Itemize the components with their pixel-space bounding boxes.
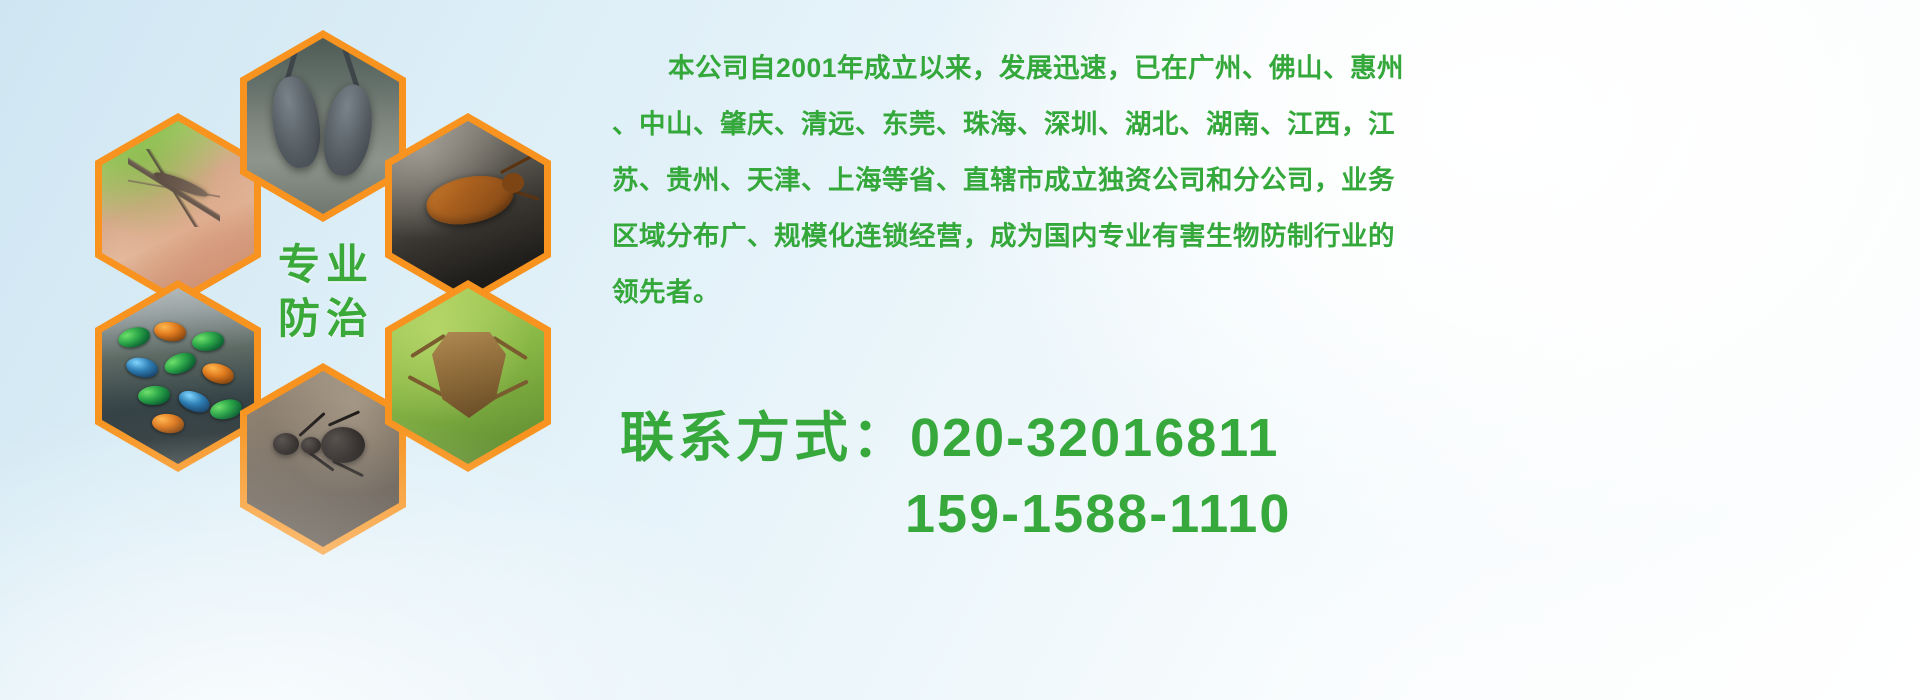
fly-icon — [116, 324, 152, 350]
fly-icon — [137, 385, 170, 406]
intro-line-1: 本公司自2001年成立以来，发展迅速，已在广州、佛山、惠州 — [612, 40, 1517, 96]
hex-photo-cockroach[interactable] — [385, 113, 551, 305]
intro-line-2: 、中山、肇庆、清远、东莞、珠海、深圳、湖北、湖南、江西，江 — [612, 96, 1517, 152]
fly-icon — [162, 349, 199, 378]
hex-photo-flies[interactable] — [95, 280, 261, 472]
fly-icon — [191, 330, 225, 352]
hex-photo-mosquito[interactable] — [95, 113, 261, 305]
ant-leg-icon — [298, 412, 325, 437]
contact-label: 联系方式： — [620, 408, 910, 468]
mosquito-legs-icon — [128, 149, 220, 227]
rat-body-icon — [318, 81, 378, 179]
hex-inner-cockroach — [392, 121, 544, 297]
fly-icon — [200, 360, 236, 387]
contact-secondary-row: 159-1588-1110 — [620, 476, 1291, 552]
rats-photo — [247, 38, 399, 214]
specialty-badge: 专业 防治 — [240, 196, 406, 388]
stinkbug-photo — [392, 288, 544, 464]
hex-photo-rats[interactable] — [240, 30, 406, 222]
flies-photo — [102, 288, 254, 464]
hex-inner-flies — [102, 288, 254, 464]
cockroach-antenna-icon — [500, 151, 540, 174]
contact-primary-row: 联系方式：020-32016811 — [620, 400, 1291, 476]
phone-secondary[interactable]: 159-1588-1110 — [905, 484, 1291, 544]
fly-icon — [153, 320, 187, 343]
fly-icon — [124, 355, 159, 380]
hex-photo-ant[interactable] — [240, 363, 406, 555]
fly-icon — [208, 397, 243, 422]
hex-inner-ant — [247, 371, 399, 547]
hex-inner-rats — [247, 38, 399, 214]
fly-icon — [176, 387, 213, 417]
stinkbug-body-icon — [432, 332, 506, 418]
rat-body-icon — [267, 73, 325, 171]
fly-icon — [151, 412, 185, 434]
ant-head-icon — [321, 427, 365, 463]
company-intro-text: 本公司自2001年成立以来，发展迅速，已在广州、佛山、惠州 、中山、肇庆、清远、… — [612, 40, 1517, 320]
honeycomb-photo-cluster: 专业 防治 — [95, 8, 595, 568]
intro-line-3: 苏、贵州、天津、上海等省、直辖市成立独资公司和分公司，业务 — [612, 152, 1517, 208]
phone-primary[interactable]: 020-32016811 — [910, 408, 1279, 468]
intro-line-5: 领先者。 — [612, 264, 1517, 320]
ant-abdomen-icon — [273, 433, 299, 455]
ant-leg-icon — [328, 410, 360, 427]
hex-inner-stinkbug — [392, 288, 544, 464]
promo-banner: 专业 防治 本公司自2001年成立以来，发展迅速，已在广州、佛山、惠州 、中山、… — [0, 0, 1920, 700]
intro-line-4: 区域分布广、规模化连锁经营，成为国内专业有害生物防制行业的 — [612, 208, 1517, 264]
badge-line-2: 防治 — [272, 297, 374, 341]
ant-photo — [247, 371, 399, 547]
badge-line-1: 专业 — [272, 243, 374, 287]
cockroach-photo — [392, 121, 544, 297]
hex-inner-mosquito — [102, 121, 254, 297]
mosquito-photo — [102, 121, 254, 297]
contact-block: 联系方式：020-32016811 159-1588-1110 — [620, 400, 1291, 552]
ant-thorax-icon — [301, 437, 321, 454]
hex-photo-stinkbug[interactable] — [385, 280, 551, 472]
